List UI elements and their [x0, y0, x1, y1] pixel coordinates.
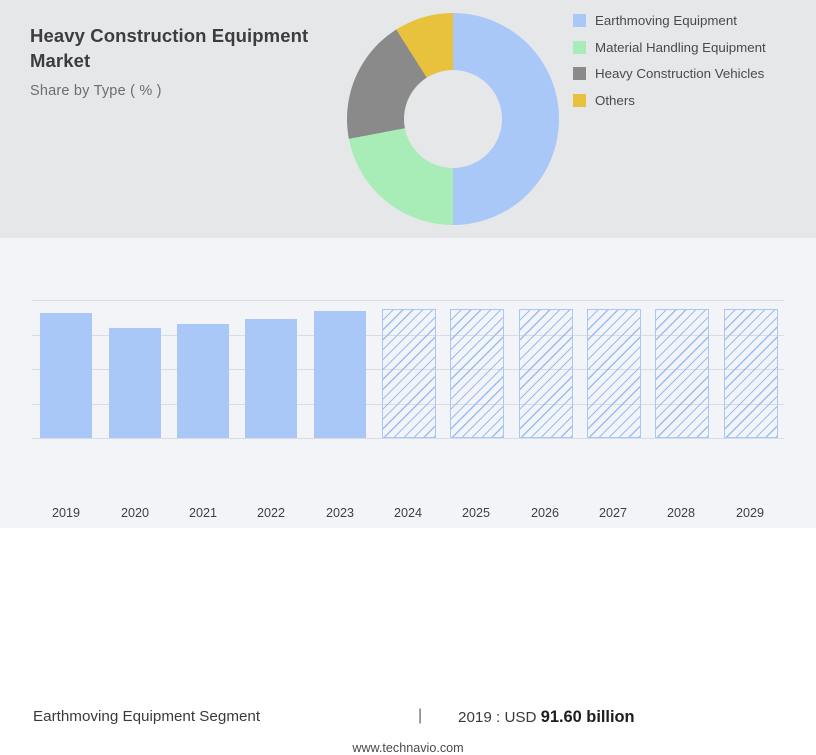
footer-separator: |	[418, 707, 422, 725]
bar	[382, 309, 436, 438]
bar	[519, 309, 573, 438]
title-block: Heavy Construction Equipment Market Shar…	[30, 24, 370, 99]
bar	[450, 309, 504, 438]
legend: Earthmoving Equipment Material Handling …	[573, 12, 809, 118]
segment-label: Earthmoving Equipment Segment	[33, 708, 260, 725]
bar	[245, 319, 297, 438]
legend-item-label: Material Handling Equipment	[595, 39, 766, 57]
bar	[109, 328, 161, 438]
gridline	[32, 300, 784, 301]
legend-swatch-icon	[573, 67, 586, 80]
x-axis-label: 2029	[715, 506, 785, 520]
website-label: www.technavio.com	[0, 741, 816, 755]
segment-value-number: 91.60 billion	[541, 708, 635, 726]
legend-swatch-icon	[573, 41, 586, 54]
bar	[314, 311, 366, 438]
top-panel: Heavy Construction Equipment Market Shar…	[0, 0, 816, 238]
bottom-panel: 2019202020212022202320242025202620272028…	[0, 238, 816, 528]
bar	[40, 313, 92, 438]
footer-row: Earthmoving Equipment Segment | 2019 : U…	[0, 708, 816, 738]
x-axis-label: 2026	[510, 506, 580, 520]
bar	[177, 324, 229, 438]
donut-hole	[404, 70, 502, 168]
legend-item-label: Earthmoving Equipment	[595, 12, 737, 30]
legend-item: Others	[573, 92, 809, 110]
donut-chart	[347, 13, 559, 225]
segment-value: 2019 : USD 91.60 billion	[458, 708, 635, 727]
x-axis-label: 2024	[373, 506, 443, 520]
x-axis-label: 2025	[441, 506, 511, 520]
bar-chart: 2019202020212022202320242025202620272028…	[32, 300, 784, 438]
x-axis-label: 2027	[578, 506, 648, 520]
legend-swatch-icon	[573, 94, 586, 107]
page-subtitle: Share by Type ( % )	[30, 83, 370, 99]
legend-item-label: Others	[595, 92, 635, 110]
x-axis-label: 2023	[305, 506, 375, 520]
infographic-page: Heavy Construction Equipment Market Shar…	[0, 0, 816, 528]
x-axis-label: 2019	[31, 506, 101, 520]
bar	[655, 309, 709, 438]
x-axis-label: 2022	[236, 506, 306, 520]
x-axis-label: 2020	[100, 506, 170, 520]
bar	[587, 309, 641, 438]
segment-value-prefix: 2019 : USD	[458, 709, 541, 726]
legend-item-label: Heavy Construction Vehicles	[595, 65, 764, 83]
gridline	[32, 438, 784, 439]
legend-item: Material Handling Equipment	[573, 39, 809, 57]
page-title: Heavy Construction Equipment Market	[30, 24, 370, 74]
legend-item: Earthmoving Equipment	[573, 12, 809, 30]
x-axis-label: 2021	[168, 506, 238, 520]
x-axis-label: 2028	[646, 506, 716, 520]
legend-swatch-icon	[573, 14, 586, 27]
legend-item: Heavy Construction Vehicles	[573, 65, 809, 83]
bar	[724, 309, 778, 438]
